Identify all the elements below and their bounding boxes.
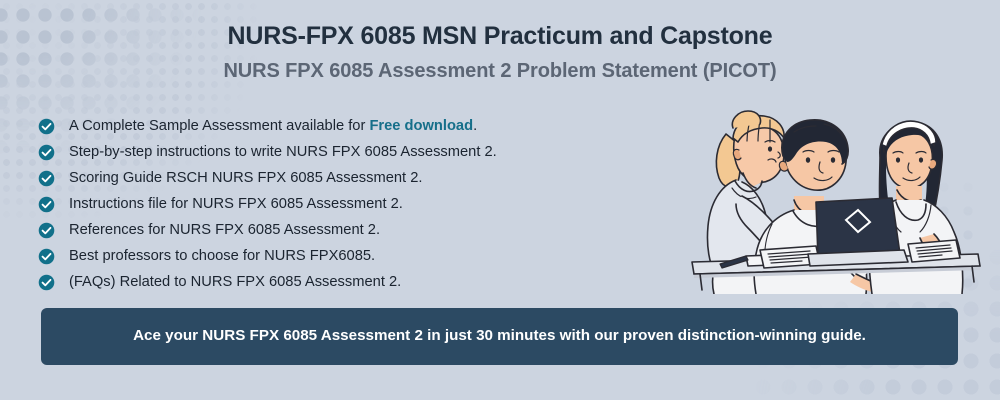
- check-circle-icon: [38, 222, 55, 239]
- list-item-label: Step-by-step instructions to write NURS …: [69, 145, 497, 160]
- illustration-svg: .ln{fill:none;stroke:#2b2b33;stroke-widt…: [690, 104, 982, 294]
- free-download-link[interactable]: Free download: [369, 118, 473, 134]
- page-subtitle: NURS FPX 6085 Assessment 2 Problem State…: [0, 60, 1000, 83]
- list-item-label: Instructions file for NURS FPX 6085 Asse…: [69, 197, 403, 212]
- list-item-text-before: A Complete Sample Assessment available f…: [69, 118, 369, 134]
- list-item: References for NURS FPX 6085 Assessment …: [38, 217, 678, 243]
- list-item: A Complete Sample Assessment available f…: [38, 113, 678, 139]
- list-item: Scoring Guide RSCH NURS FPX 6085 Assessm…: [38, 165, 678, 191]
- list-item-label: Best professors to choose for NURS FPX60…: [69, 249, 375, 264]
- check-circle-icon: [38, 248, 55, 265]
- list-item-text-after: .: [473, 118, 477, 134]
- list-item: Instructions file for NURS FPX 6085 Asse…: [38, 191, 678, 217]
- list-item: Best professors to choose for NURS FPX60…: [38, 243, 678, 269]
- list-item: Step-by-step instructions to write NURS …: [38, 139, 678, 165]
- cta-banner[interactable]: Ace your NURS FPX 6085 Assessment 2 in j…: [41, 308, 958, 365]
- list-item-label: A Complete Sample Assessment available f…: [69, 119, 477, 134]
- check-circle-icon: [38, 118, 55, 135]
- check-circle-icon: [38, 196, 55, 213]
- cta-banner-text: Ace your NURS FPX 6085 Assessment 2 in j…: [133, 325, 866, 347]
- check-circle-icon: [38, 170, 55, 187]
- check-circle-icon: [38, 274, 55, 291]
- promo-banner-page: NURS-FPX 6085 MSN Practicum and Capstone…: [0, 0, 1000, 400]
- list-item: (FAQs) Related to NURS FPX 6085 Assessme…: [38, 269, 678, 295]
- page-title: NURS-FPX 6085 MSN Practicum and Capstone: [0, 22, 1000, 51]
- check-circle-icon: [38, 144, 55, 161]
- list-item-label: (FAQs) Related to NURS FPX 6085 Assessme…: [69, 275, 401, 290]
- three-students-at-desk-with-laptop-illustration: .ln{fill:none;stroke:#2b2b33;stroke-widt…: [690, 104, 982, 294]
- feature-list: A Complete Sample Assessment available f…: [38, 113, 678, 295]
- list-item-label: Scoring Guide RSCH NURS FPX 6085 Assessm…: [69, 171, 422, 186]
- list-item-label: References for NURS FPX 6085 Assessment …: [69, 223, 380, 238]
